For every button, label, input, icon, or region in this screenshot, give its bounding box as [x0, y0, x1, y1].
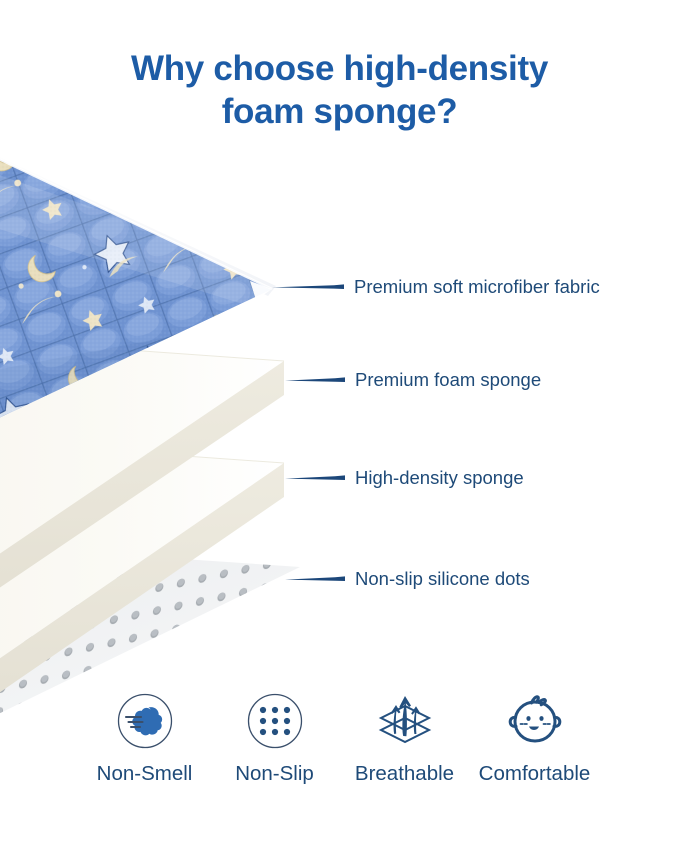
infographic-page: Why choose high-density foam sponge? Pre… — [0, 0, 679, 849]
callout-label: Non-slip silicone dots — [355, 570, 530, 589]
leader-line-icon — [272, 280, 346, 294]
feature-label: Non-Smell — [97, 764, 193, 785]
airflow-layers-icon — [374, 690, 436, 752]
feature-row: Non-Smell Non-Slip — [0, 690, 679, 810]
feature-non-smell: Non-Smell — [80, 690, 210, 785]
page-title-line-1: Why choose high-density — [0, 48, 679, 91]
feature-breathable: Breathable — [340, 690, 470, 785]
page-title-line-2: foam sponge? — [0, 91, 679, 134]
dot-grid-icon — [244, 690, 306, 752]
feature-comfortable: Comfortable — [470, 690, 600, 785]
odor-free-icon — [114, 690, 176, 752]
feature-label: Comfortable — [479, 764, 591, 785]
leader-line-icon — [285, 373, 347, 387]
callout-premium-foam-sponge: Premium foam sponge — [285, 371, 541, 390]
page-title: Why choose high-density foam sponge? — [0, 48, 679, 133]
feature-label: Non-Slip — [235, 764, 314, 785]
callout-label: Premium foam sponge — [355, 371, 541, 390]
callout-label: High-density sponge — [355, 469, 524, 488]
feature-non-slip: Non-Slip — [210, 690, 340, 785]
leader-line-icon — [285, 572, 347, 586]
callout-high-density-sponge: High-density sponge — [285, 469, 524, 488]
feature-label: Breathable — [355, 764, 454, 785]
leader-line-icon — [285, 471, 347, 485]
callout-label: Premium soft microfiber fabric — [354, 278, 600, 297]
callout-microfiber-fabric: Premium soft microfiber fabric — [272, 278, 600, 297]
baby-face-icon — [504, 690, 566, 752]
callout-non-slip-silicone-dots: Non-slip silicone dots — [285, 570, 530, 589]
